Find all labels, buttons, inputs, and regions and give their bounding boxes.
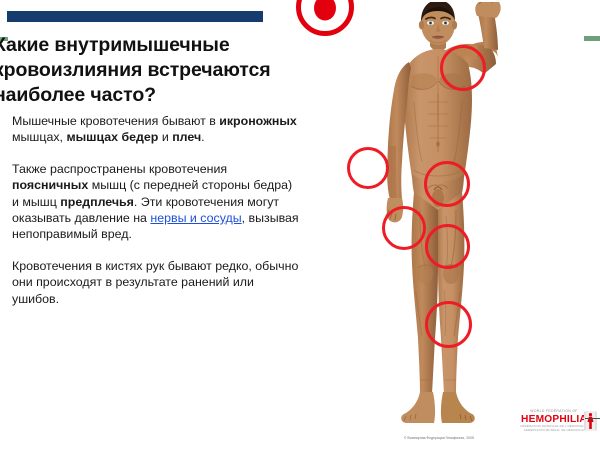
paragraph-1: Мышечные кровотечения бывают в икроножны… xyxy=(12,113,302,146)
text-run: . xyxy=(201,130,204,144)
text-run: Мышечные кровотечения бывают в xyxy=(12,114,219,128)
emphasis-text: мышцах бедер xyxy=(66,130,158,144)
marker-calf xyxy=(425,301,472,348)
emphasis-text: предплечья xyxy=(60,195,134,209)
text-run: Также распространены кровотечения xyxy=(12,162,227,176)
emphasis-text: поясничных xyxy=(12,178,88,192)
text-run: мышцах, xyxy=(12,130,66,144)
text-run: и xyxy=(158,130,172,144)
emblem-center-dot-icon xyxy=(314,0,336,21)
wfh-figure-icon xyxy=(584,411,597,431)
copyright-credit: © Всемирная Федерация Гемофилии, 2005 xyxy=(404,436,600,441)
paragraph-2: Также распространены кровотечения поясни… xyxy=(12,161,302,243)
inline-link[interactable]: нервы и сосуды xyxy=(150,211,241,225)
marker-thigh-right xyxy=(425,224,470,269)
page-title: Какие внутримышечные кровоизлияния встре… xyxy=(0,33,294,108)
wfh-logo-rule xyxy=(585,418,600,419)
marker-upper-arm xyxy=(440,45,486,91)
wfh-logo: WORLD FEDERATION OF HEMOPHILIA FÉDÉRATIO… xyxy=(513,409,595,434)
body-text-block: Мышечные кровотечения бывают в икроножны… xyxy=(12,113,302,322)
marker-thigh-front xyxy=(382,206,426,250)
wfh-logo-sub-line-2: FEDERACIÓN MUNDIAL DE HEMOFILIA xyxy=(513,429,595,433)
red-circle-emblem-icon xyxy=(296,0,354,36)
slide-canvas: Какие внутримышечные кровоизлияния встре… xyxy=(0,0,600,451)
green-accent-dash-right xyxy=(584,36,600,41)
text-run: Кровотечения в кистях рук бывают редко, … xyxy=(12,259,298,306)
marker-hip-groin xyxy=(424,161,470,207)
marker-forearm-left xyxy=(347,147,389,189)
emphasis-text: плеч xyxy=(172,130,201,144)
navy-accent-bar xyxy=(7,11,263,22)
paragraph-3: Кровотечения в кистях рук бывают редко, … xyxy=(12,258,302,307)
emphasis-text: икроножных xyxy=(219,114,297,128)
